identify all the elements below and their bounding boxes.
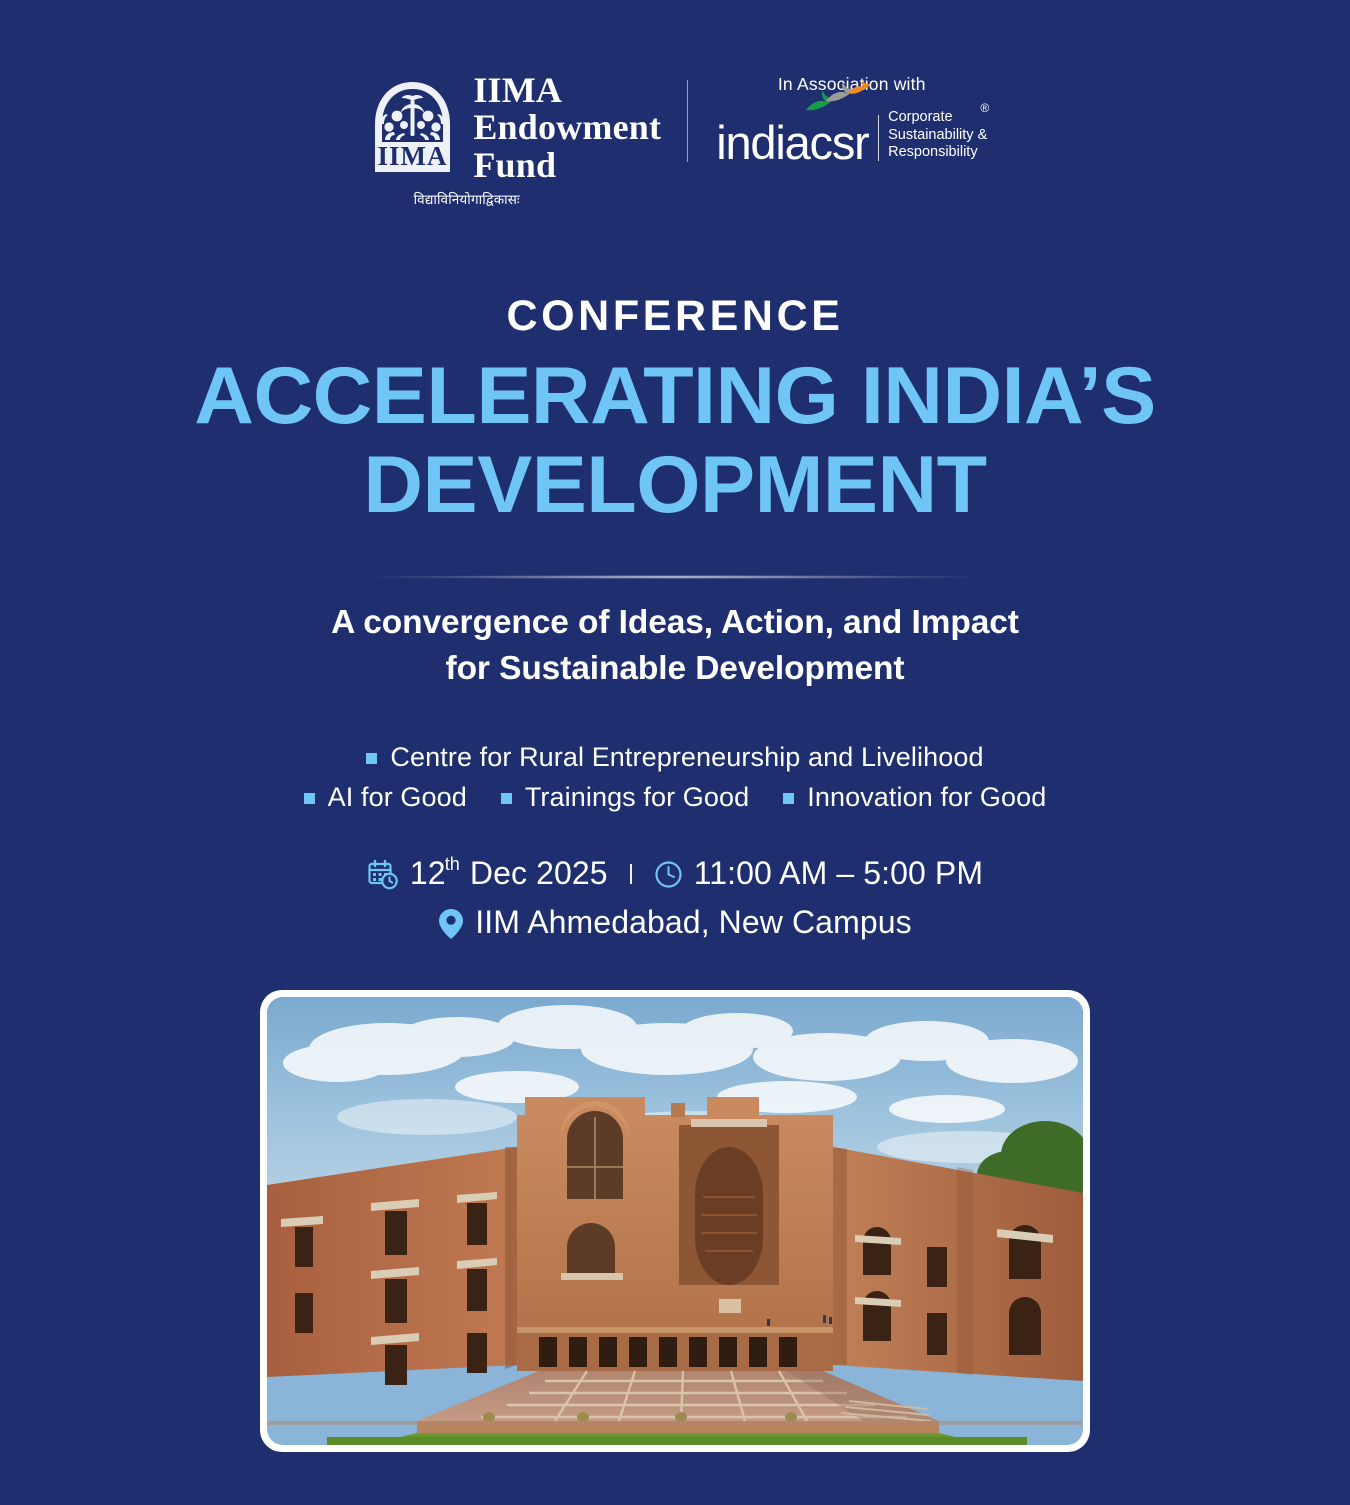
event-venue-row: IIM Ahmedabad, New Campus: [0, 904, 1350, 941]
logo-divider: [687, 80, 689, 162]
track-label: Trainings for Good: [525, 782, 749, 813]
track-label: AI for Good: [328, 782, 467, 813]
indiacsr-tagline-line2: Sustainability &: [888, 127, 987, 145]
event-details: 12th Dec 2025 11:00 AM – 5:00 PM: [0, 855, 1350, 941]
square-bullet-icon: [783, 793, 794, 804]
indiacsr-divider: [878, 115, 880, 161]
iima-wordmark-line2: Endowment: [473, 109, 661, 146]
indiacsr-wordmark: indiacsr: [716, 123, 868, 163]
square-bullet-icon: [501, 793, 512, 804]
square-bullet-icon: [366, 753, 377, 764]
iima-motto: विद्याविनियोगाद्विकासः: [414, 190, 520, 208]
association-logo-group: In Association with indiacsr Corporate S…: [716, 72, 987, 163]
event-date: 12th Dec 2025: [367, 855, 608, 892]
iima-endowment-fund-logo: IIMA IIMA Endowment Fund विद्याविनियोगाद…: [363, 72, 663, 208]
conference-kicker: CONFERENCE: [0, 292, 1350, 341]
event-date-rest: Dec 2025: [461, 855, 608, 891]
track-label: Centre for Rural Entrepreneurship and Li…: [390, 742, 983, 773]
event-date-day: 12: [410, 855, 446, 891]
indiacsr-tagline-line1: Corporate: [888, 109, 987, 127]
three-birds-icon: [804, 82, 878, 118]
iima-arch-crest-icon: IIMA: [364, 80, 461, 176]
iima-wordmark-line3: Fund: [473, 147, 661, 184]
campus-photo-frame: [260, 990, 1090, 1452]
meta-separator: [630, 864, 632, 884]
square-bullet-icon: [304, 793, 315, 804]
track-list: Centre for Rural Entrepreneurship and Li…: [0, 742, 1350, 813]
conference-poster: IIMA IIMA Endowment Fund विद्याविनियोगाद…: [0, 0, 1350, 1505]
event-date-ordinal: th: [445, 854, 460, 874]
indiacsr-tagline: Corporate Sustainability & Responsibilit…: [888, 109, 987, 162]
page-subtitle-line1: A convergence of Ideas, Action, and Impa…: [0, 600, 1350, 646]
iima-logo-row: IIMA IIMA Endowment Fund: [364, 72, 661, 184]
track-row-1: Centre for Rural Entrepreneurship and Li…: [0, 742, 1350, 773]
svg-text:IIMA: IIMA: [378, 141, 448, 171]
location-pin-icon: [438, 908, 464, 940]
event-date-time-row: 12th Dec 2025 11:00 AM – 5:00 PM: [0, 855, 1350, 892]
event-venue-text: IIM Ahmedabad, New Campus: [475, 904, 911, 941]
list-item: Centre for Rural Entrepreneurship and Li…: [366, 742, 983, 773]
event-time-text: 11:00 AM – 5:00 PM: [694, 855, 983, 892]
page-title-line1: ACCELERATING INDIA’S: [0, 352, 1350, 441]
event-date-text: 12th Dec 2025: [410, 855, 608, 892]
track-label: Innovation for Good: [807, 782, 1046, 813]
page-subtitle-line2: for Sustainable Development: [0, 646, 1350, 692]
list-item: Innovation for Good: [783, 782, 1046, 813]
track-row-2: AI for Good Trainings for Good Innovatio…: [0, 782, 1350, 813]
list-item: AI for Good: [304, 782, 467, 813]
list-item: Trainings for Good: [501, 782, 749, 813]
clock-icon: [654, 860, 683, 889]
iima-wordmark: IIMA Endowment Fund: [473, 72, 661, 184]
registered-trademark-icon: ®: [980, 101, 989, 116]
calendar-clock-icon: [367, 859, 399, 891]
title-divider: [375, 575, 975, 579]
indiacsr-tagline-line3: Responsibility: [888, 144, 987, 162]
event-time: 11:00 AM – 5:00 PM: [654, 855, 983, 892]
indiacsr-logo: indiacsr Corporate Sustainability & Resp…: [716, 109, 987, 163]
event-venue: IIM Ahmedabad, New Campus: [438, 904, 911, 941]
iim-ahmedabad-louis-kahn-plaza-photo: [267, 997, 1083, 1445]
page-title: ACCELERATING INDIA’S DEVELOPMENT: [0, 352, 1350, 530]
page-subtitle: A convergence of Ideas, Action, and Impa…: [0, 600, 1350, 692]
page-title-line2: DEVELOPMENT: [0, 441, 1350, 530]
iima-wordmark-line1: IIMA: [473, 72, 661, 109]
logo-bar: IIMA IIMA Endowment Fund विद्याविनियोगाद…: [0, 72, 1350, 208]
